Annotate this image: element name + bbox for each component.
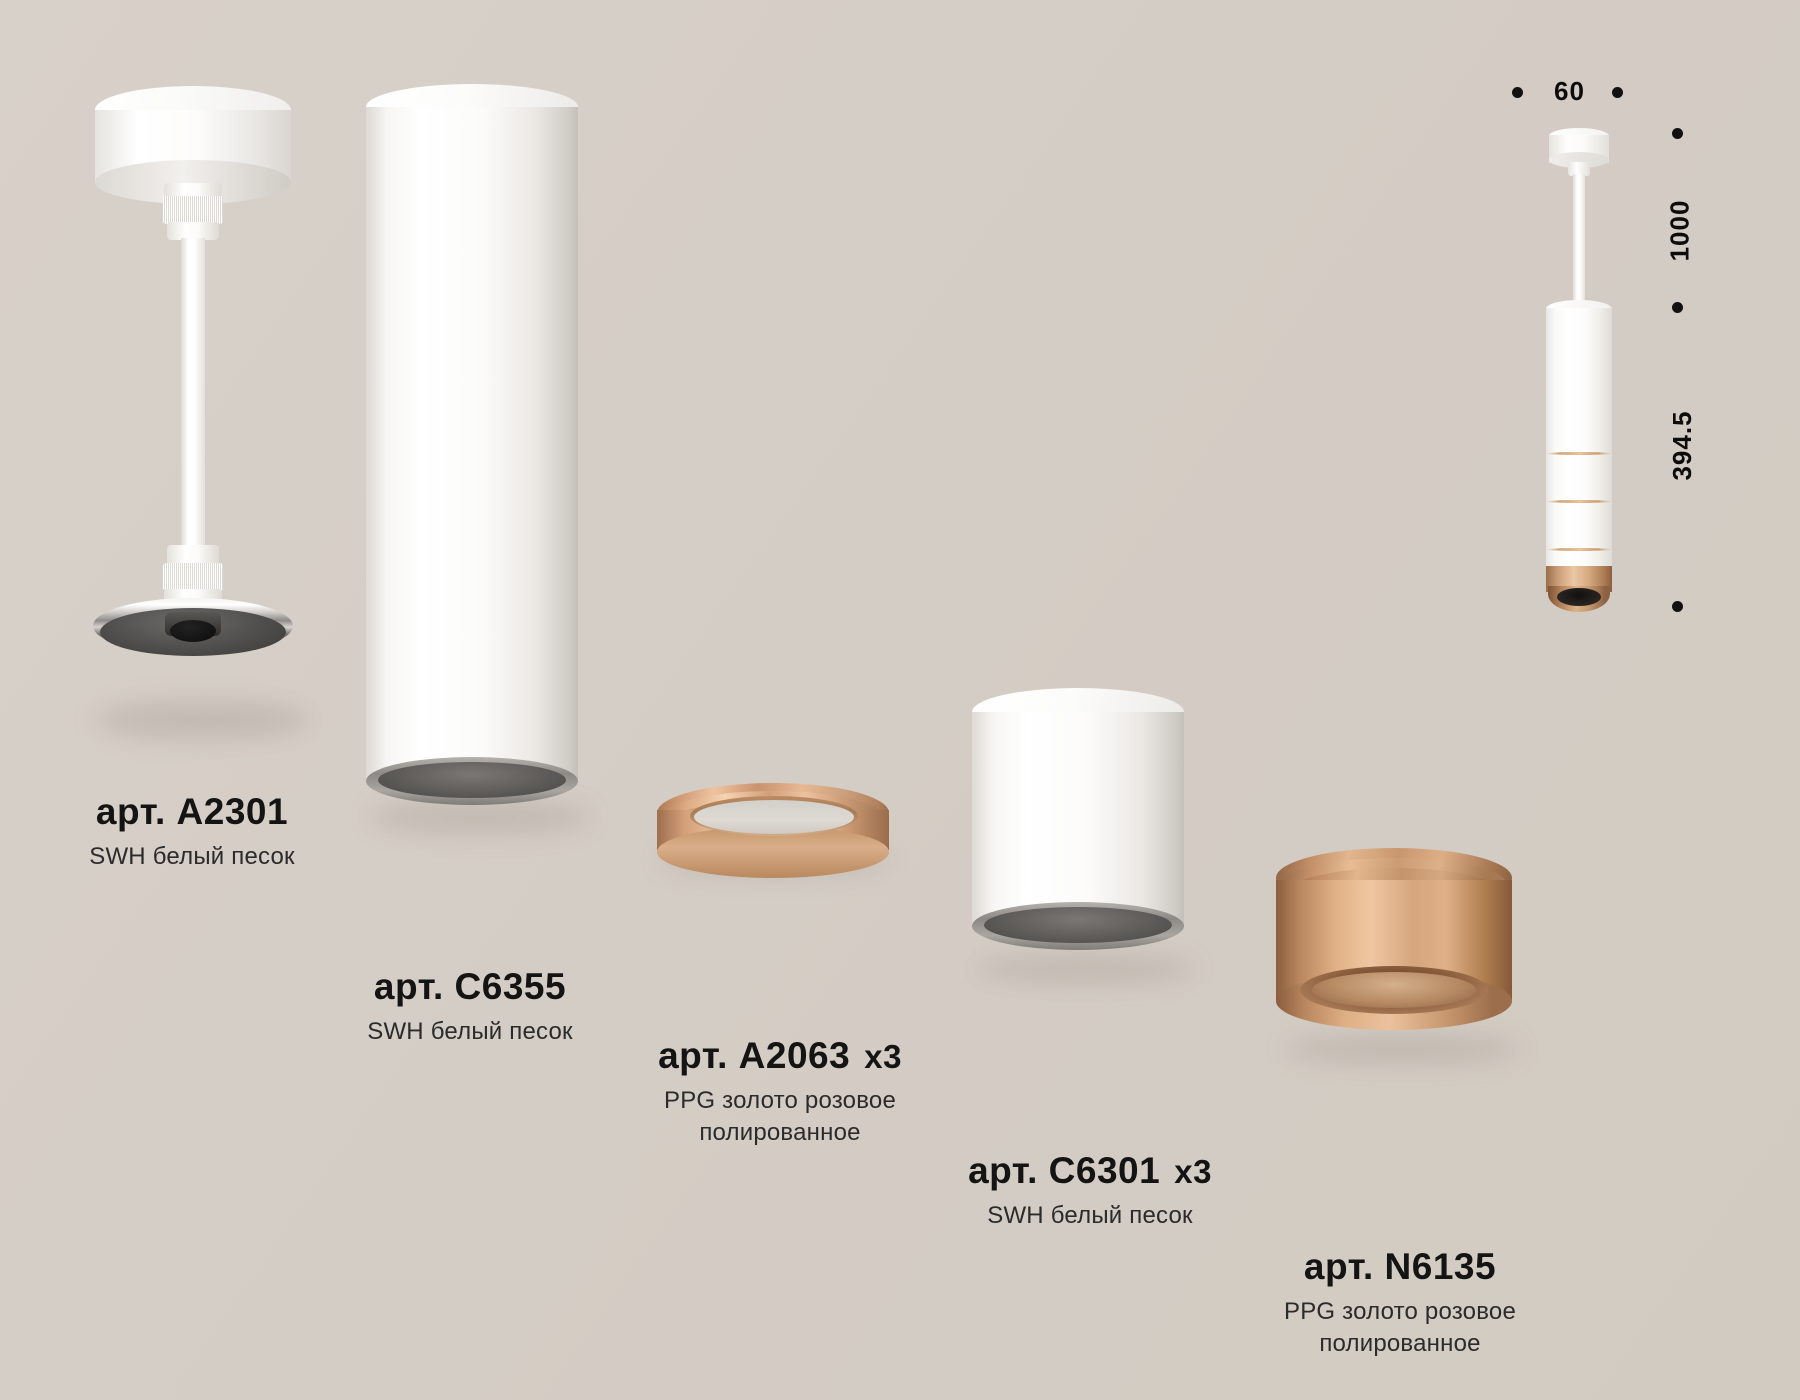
article-desc-c6301: SWH белый песок <box>930 1200 1250 1232</box>
shadow <box>95 700 310 740</box>
dimension-dot-width-right <box>1612 87 1623 98</box>
article-code-n6135: арт. N6135 <box>1240 1248 1560 1285</box>
pendant-tube-body <box>1546 308 1612 568</box>
cylinder-bottom-aperture <box>378 762 566 798</box>
article-code-a2063: арт. A2063x3 <box>620 1037 940 1074</box>
dimension-dot-length-bottom <box>1672 601 1683 612</box>
article-code-c6301: арт. C6301x3 <box>930 1152 1250 1189</box>
label-n6135: арт. N6135 PPG золото розовое полированн… <box>1240 1248 1560 1359</box>
pendant-gold-ring-1 <box>1546 452 1612 455</box>
label-c6301: арт. C6301x3 SWH белый песок <box>930 1152 1250 1232</box>
article-desc-a2301: SWH белый песок <box>42 841 342 873</box>
short-cylinder-aperture <box>984 907 1172 943</box>
article-desc-a2063: PPG золото розовое полированное <box>620 1085 940 1148</box>
dimension-dot-width-left <box>1512 87 1523 98</box>
gold-cup-aperture-inner <box>1312 972 1476 1008</box>
gold-ring-aperture-inner <box>694 800 854 834</box>
pendant-aperture <box>1557 588 1601 606</box>
suspension-rod <box>181 238 205 548</box>
short-cylinder-body <box>972 712 1184 927</box>
article-desc-c6355: SWH белый песок <box>320 1016 620 1048</box>
dimension-dot-drop-bottom <box>1672 302 1683 313</box>
dimension-dot-drop-top <box>1672 128 1683 139</box>
article-code-c6355: арт. C6355 <box>320 968 620 1005</box>
article-code-a2301: арт. A2301 <box>42 793 342 830</box>
knurl-upper <box>163 196 223 224</box>
shadow <box>975 955 1195 983</box>
dimension-width-label: 60 <box>1554 76 1585 107</box>
collar-lower <box>167 545 219 565</box>
shadow <box>370 800 590 834</box>
collar-upper <box>164 183 222 197</box>
quantity-a2063: x3 <box>864 1038 902 1075</box>
article-desc-n6135: PPG золото розовое полированное <box>1240 1296 1560 1359</box>
pendant-gold-ring-2 <box>1546 500 1612 503</box>
cylinder-body <box>366 107 578 782</box>
label-a2301: арт. A2301 SWH белый песок <box>42 793 342 873</box>
knurl-lower <box>163 563 223 591</box>
pendant-rod <box>1573 174 1585 304</box>
product-diagram-canvas: арт. A2301 SWH белый песок арт. C6355 SW… <box>0 0 1800 1400</box>
shadow <box>1285 1035 1520 1063</box>
disc-hub-center <box>170 620 216 642</box>
label-a2063: арт. A2063x3 PPG золото розовое полирова… <box>620 1037 940 1148</box>
dimension-length-label: 394.5 <box>1667 398 1698 493</box>
quantity-c6301: x3 <box>1174 1153 1212 1190</box>
pendant-gold-ring-3 <box>1546 548 1612 551</box>
label-c6355: арт. C6355 SWH белый песок <box>320 968 620 1048</box>
dimension-drop-label: 1000 <box>1665 191 1696 271</box>
